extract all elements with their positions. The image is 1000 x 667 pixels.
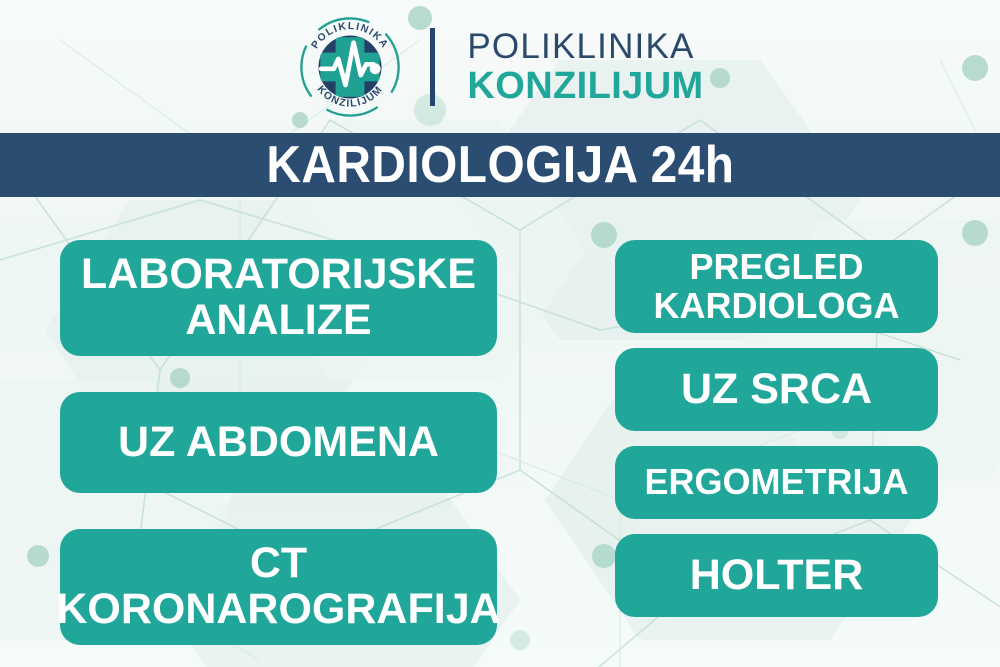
brand-divider <box>430 28 435 106</box>
service-label: UZ SRCA <box>681 367 872 413</box>
service-label: LABORATORIJSKE ANALIZE <box>81 252 476 343</box>
title-banner: KARDIOLOGIJA 24h <box>0 133 1000 197</box>
service-column-right: PREGLED KARDIOLOGA UZ SRCA ERGOMETRIJA H… <box>615 240 938 617</box>
service-button-ergometrija[interactable]: ERGOMETRIJA <box>615 446 938 519</box>
service-button-uz-srca[interactable]: UZ SRCA <box>615 348 938 431</box>
brand-name-primary: POLIKLINIKA <box>467 29 703 64</box>
clinic-cross-ecg-emblem-icon: POLIKLINIKA KONZILIJUM <box>296 13 404 121</box>
service-label: CT KORONAROGRAFIJA <box>56 541 500 632</box>
poster-root: POLIKLINIKA KONZILIJUM POLIKLINIKA KONZI… <box>0 0 1000 667</box>
service-button-laboratorijske-analize[interactable]: LABORATORIJSKE ANALIZE <box>60 240 497 356</box>
service-label: HOLTER <box>690 553 864 599</box>
service-button-ct-koronarografija[interactable]: CT KORONAROGRAFIJA <box>60 529 497 645</box>
service-label: UZ ABDOMENA <box>118 420 439 466</box>
brand-name-secondary: KONZILIJUM <box>467 67 703 105</box>
service-button-holter[interactable]: HOLTER <box>615 534 938 617</box>
page-title: KARDIOLOGIJA 24h <box>266 139 734 191</box>
service-column-left: LABORATORIJSKE ANALIZE UZ ABDOMENA CT KO… <box>60 240 497 645</box>
service-label: ERGOMETRIJA <box>644 463 908 501</box>
header: POLIKLINIKA KONZILIJUM POLIKLINIKA KONZI… <box>0 0 1000 133</box>
brand-wordmark: POLIKLINIKA KONZILIJUM <box>467 29 703 105</box>
service-button-uz-abdomena[interactable]: UZ ABDOMENA <box>60 392 497 493</box>
service-button-pregled-kardiologa[interactable]: PREGLED KARDIOLOGA <box>615 240 938 333</box>
service-label: PREGLED KARDIOLOGA <box>654 248 900 324</box>
